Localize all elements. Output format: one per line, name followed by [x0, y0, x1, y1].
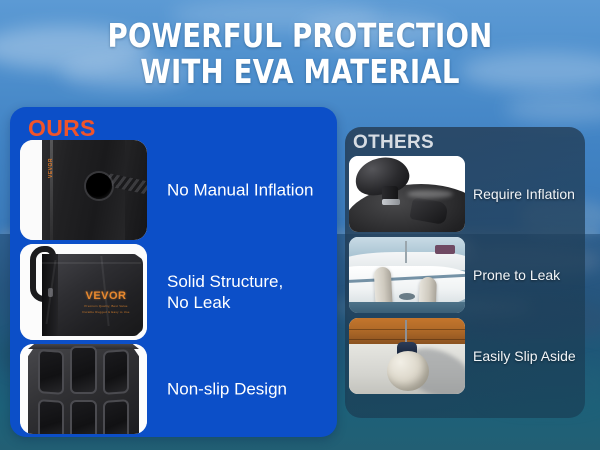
ours-panel: OURS VEVOR No Manual Inflation VEVOR Pre…	[10, 107, 337, 437]
boat-hull-with-fenders-photo	[349, 237, 465, 313]
others-panel-title: OTHERS	[353, 132, 434, 154]
others-feature-row: Easily Slip Aside	[349, 318, 581, 394]
ours-thumbnail-no-manual-inflation: VEVOR	[20, 140, 147, 240]
product-valve-closeup-photo: VEVOR	[20, 140, 147, 240]
ball-fender-on-dock-photo	[349, 318, 465, 394]
others-feature-label-1: Require Inflation	[473, 186, 575, 202]
ours-thumbnail-solid-structure: VEVOR Premium Quality, Best Value Durabl…	[20, 244, 147, 340]
vevor-brand-tagline-1: Premium Quality, Best Value	[78, 304, 134, 308]
others-panel: OTHERS Require Inflation Prone to Leak	[345, 127, 585, 418]
product-side-logo: VEVOR	[48, 158, 54, 178]
others-feature-label-2: Prone to Leak	[473, 267, 560, 283]
ours-feature-row: Non-slip Design	[20, 344, 330, 434]
vevor-brand-name: VEVOR	[78, 290, 134, 302]
ours-feature-row: VEVOR Premium Quality, Best Value Durabl…	[20, 244, 330, 340]
ours-feature-label-1: No Manual Inflation	[167, 180, 313, 201]
others-thumbnail-easily-slip-aside	[349, 318, 465, 394]
ours-feature-label-3: Non-slip Design	[167, 379, 287, 400]
ours-feature-label-2: Solid Structure, No Leak	[167, 271, 283, 313]
vevor-brand-tagline-2: Durable Rugged & Easy to Use	[78, 310, 134, 314]
product-nonslip-surface-photo	[20, 344, 147, 434]
others-feature-row: Prone to Leak	[349, 237, 581, 313]
others-thumbnail-require-inflation	[349, 156, 465, 232]
vevor-brand-mark: VEVOR Premium Quality, Best Value Durabl…	[78, 290, 134, 314]
page-title-line-1: POWERFUL PROTECTION	[21, 18, 579, 54]
page-title-line-2: WITH EVA MATERIAL	[21, 54, 579, 90]
product-body-vevor-logo-photo: VEVOR Premium Quality, Best Value Durabl…	[20, 244, 147, 340]
inflatable-fender-valve-photo	[349, 156, 465, 232]
ours-thumbnail-non-slip-design	[20, 344, 147, 434]
ours-panel-title: OURS	[28, 115, 96, 142]
page-title: POWERFUL PROTECTION WITH EVA MATERIAL	[21, 18, 579, 90]
others-feature-row: Require Inflation	[349, 156, 581, 232]
ours-feature-row: VEVOR No Manual Inflation	[20, 140, 330, 240]
others-thumbnail-prone-to-leak	[349, 237, 465, 313]
others-feature-label-3: Easily Slip Aside	[473, 348, 576, 364]
